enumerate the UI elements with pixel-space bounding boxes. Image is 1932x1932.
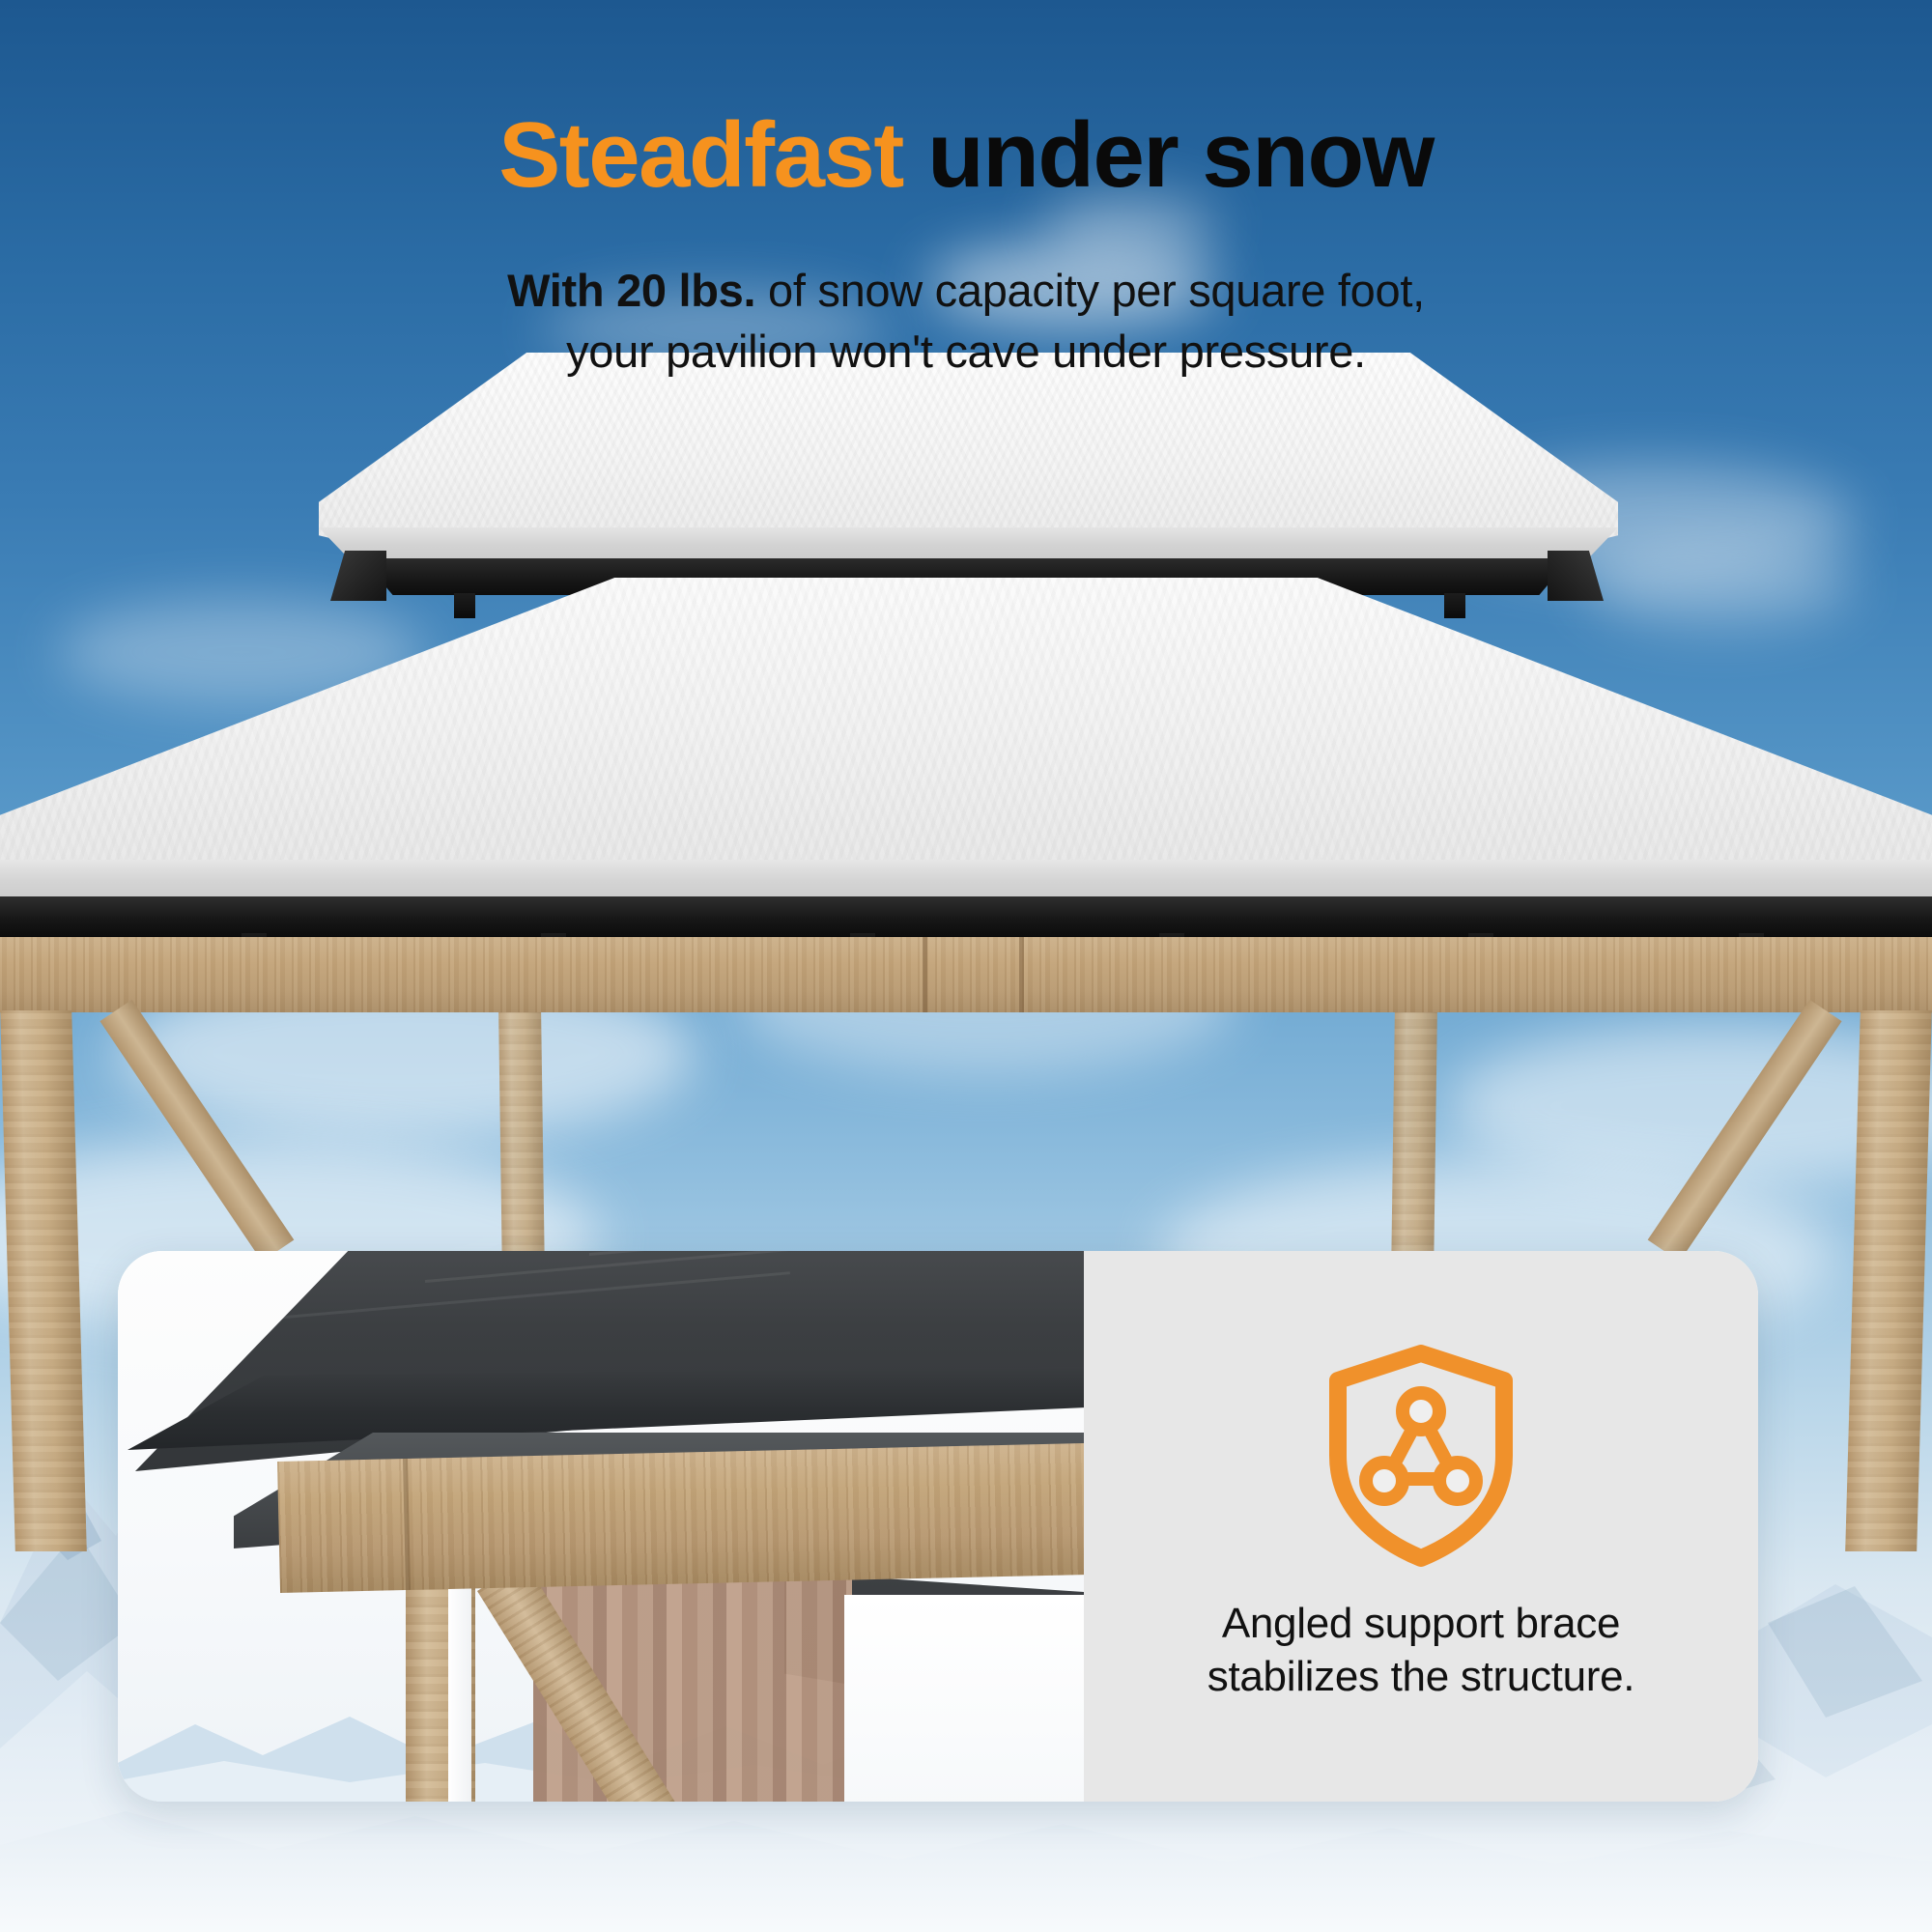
angled-support-brace (1648, 1000, 1842, 1262)
headline-accent-word: Steadfast (498, 103, 903, 207)
main-canopy-snow (0, 578, 1932, 877)
subheadline-line-1: With 20 lbs. of snow capacity per square… (0, 261, 1932, 322)
wood-seam (923, 937, 927, 1012)
feature-callout-card: Angled support brace stabilizes the stru… (118, 1251, 1758, 1802)
gazebo-corner-post (1845, 1010, 1932, 1551)
frame-tab (1444, 593, 1465, 618)
wood-seam (1019, 937, 1024, 1012)
feature-caption: Angled support brace stabilizes the stru… (1207, 1598, 1634, 1703)
angled-support-brace (99, 1000, 294, 1262)
frame-tab (454, 593, 475, 618)
feature-caption-line-2: stabilizes the structure. (1207, 1651, 1634, 1704)
subheadline-line-1-rest: of snow capacity per square foot, (755, 265, 1425, 316)
feature-caption-line-1: Angled support brace (1207, 1598, 1634, 1651)
gazebo-product-image (0, 319, 1932, 1285)
photo-header-beam (277, 1442, 1084, 1593)
marketing-banner: Steadfast under snow With 20 lbs. of sno… (0, 0, 1932, 1932)
frame-corner-right (1548, 551, 1604, 601)
gazebo-corner-post (0, 1010, 87, 1551)
subheadline: With 20 lbs. of snow capacity per square… (0, 261, 1932, 383)
frame-corner-left (330, 551, 386, 601)
brace-detail-photo (118, 1251, 1084, 1802)
photo-post-trim (448, 1570, 471, 1802)
open-view-gap (844, 1595, 1084, 1802)
subheadline-line-2: your pavilion won't cave under pressure. (0, 322, 1932, 383)
headline: Steadfast under snow (0, 106, 1932, 205)
headline-rest: under snow (903, 103, 1434, 207)
shield-truss-icon (1321, 1344, 1521, 1573)
feature-panel: Angled support brace stabilizes the stru… (1084, 1251, 1758, 1802)
snow-capacity-highlight: With 20 lbs. (507, 265, 755, 316)
wood-fascia-beam (0, 937, 1932, 1012)
main-frame-beam (0, 896, 1932, 937)
